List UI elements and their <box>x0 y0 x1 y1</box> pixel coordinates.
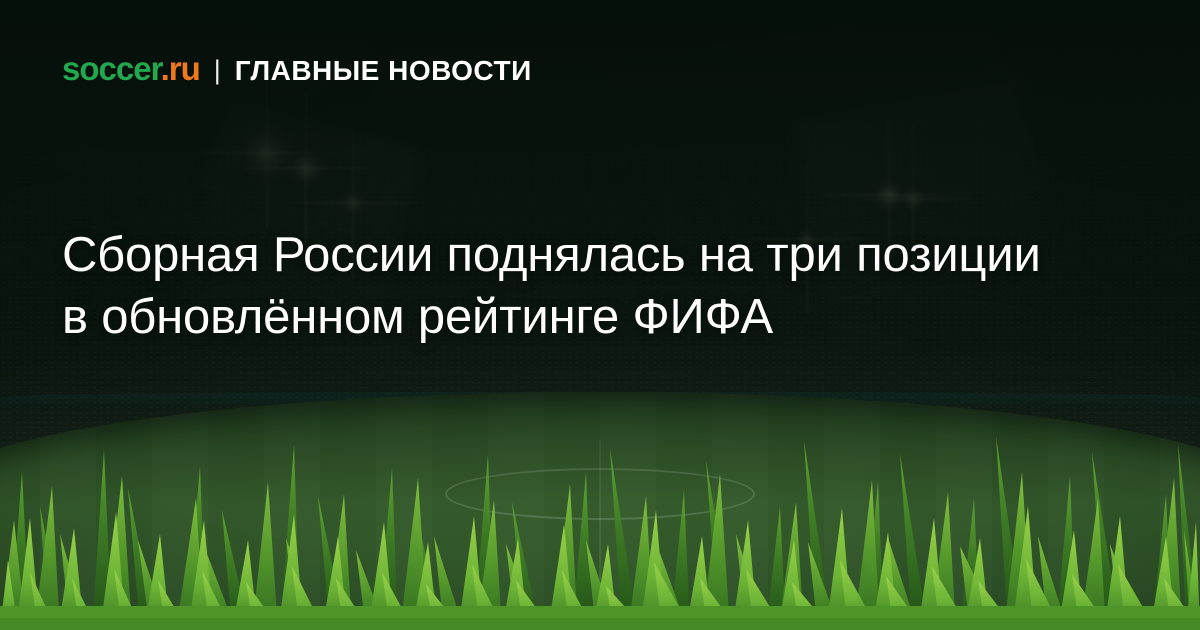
grass-blades <box>0 410 1200 630</box>
logo-name: soccer <box>62 50 161 87</box>
header-kicker: ГЛАВНЫЕ НОВОСТИ <box>235 57 532 85</box>
news-share-card: soccer.ru | ГЛАВНЫЕ НОВОСТИ Сборная Росс… <box>0 0 1200 630</box>
soccer-ru-logo[interactable]: soccer.ru <box>62 52 200 85</box>
foreground-grass <box>0 410 1200 630</box>
logo-tld: .ru <box>161 50 200 87</box>
page-title: Сборная России поднялась на три позиции … <box>62 224 1072 348</box>
header: soccer.ru | ГЛАВНЫЕ НОВОСТИ <box>62 52 532 85</box>
header-separator: | <box>214 57 221 84</box>
